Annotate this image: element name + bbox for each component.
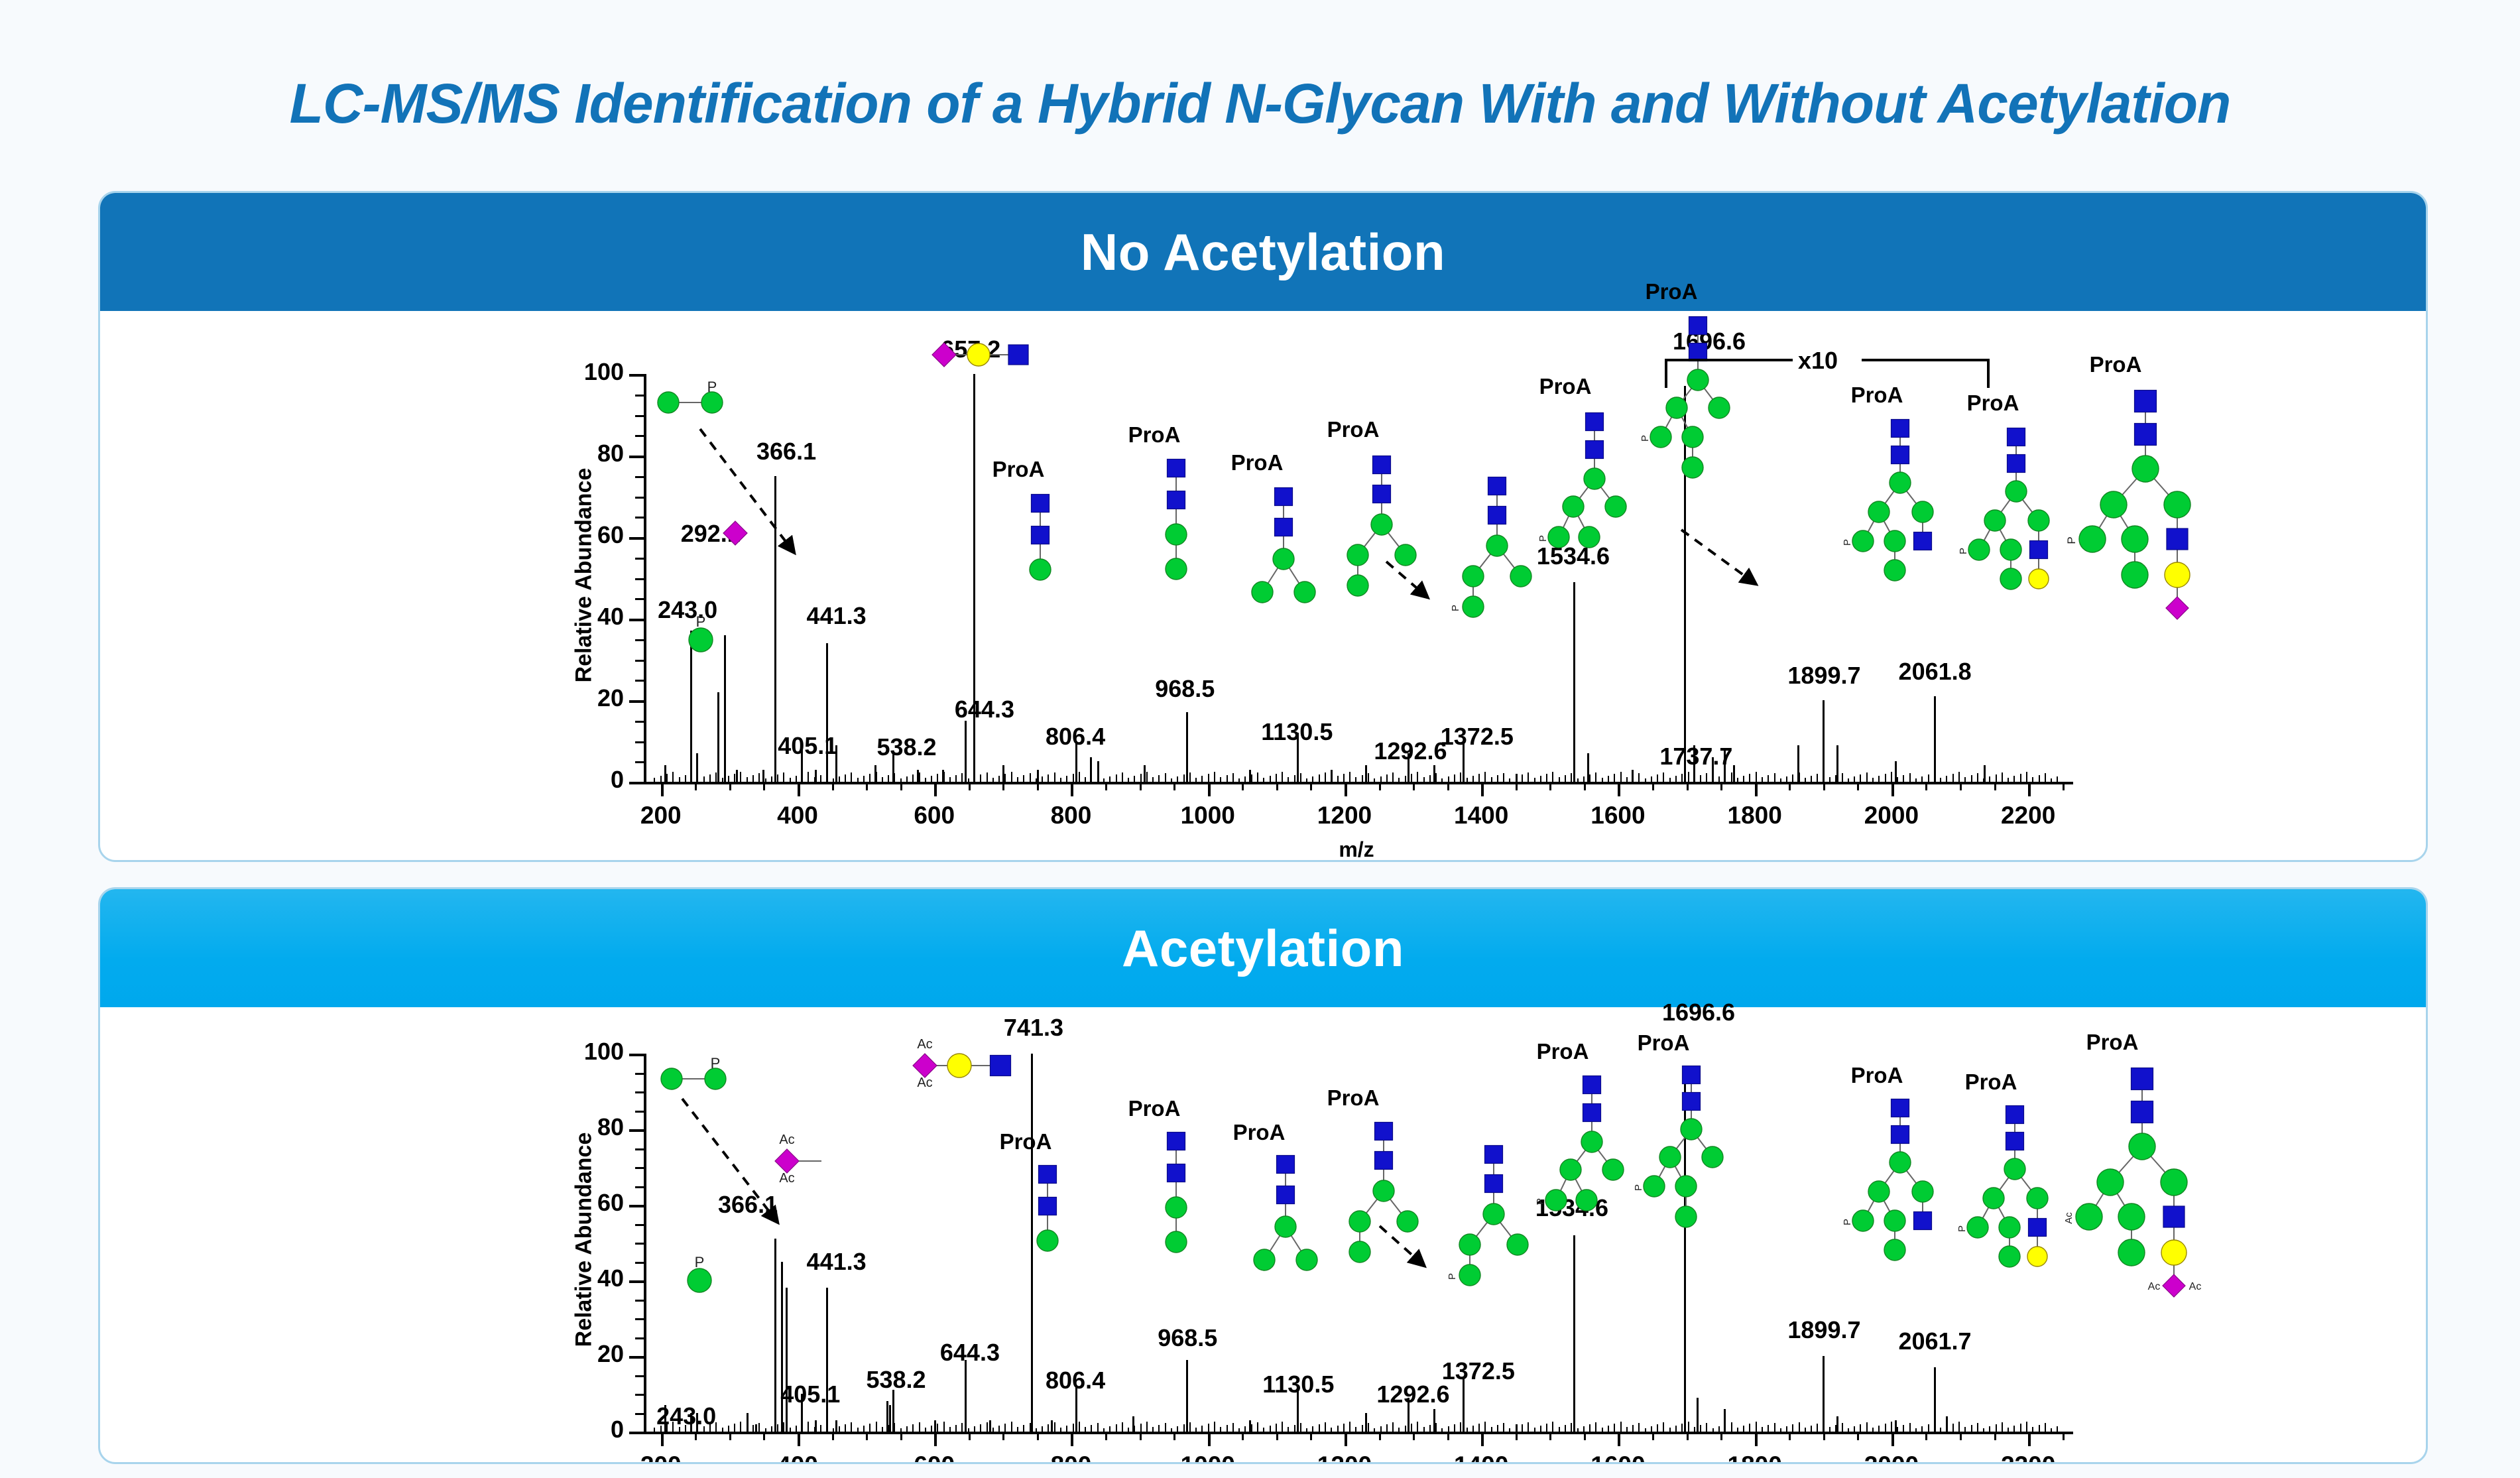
x-major-tick (1755, 782, 1758, 796)
baseline-noise (1700, 1425, 1701, 1432)
baseline-noise (1620, 1422, 1622, 1432)
baseline-noise (1546, 774, 1547, 782)
x-major-tick (1891, 782, 1894, 796)
y-minor-tick (635, 1091, 645, 1093)
x-major-tick (1345, 1432, 1347, 1446)
spectrum-peak-labeled (1934, 696, 1936, 782)
annotation-arrow (1668, 517, 1768, 596)
baseline-noise (1608, 776, 1609, 782)
baseline-noise (1528, 1422, 1529, 1432)
x-major-tick (798, 782, 800, 796)
spectrum-peak-labeled (1823, 1356, 1825, 1432)
x-major-tick (1618, 782, 1620, 796)
baseline-noise (1189, 1422, 1191, 1432)
panel-header-no-acetylation: No Acetylation (100, 193, 2426, 311)
baseline-noise (1048, 774, 1049, 782)
baseline-noise (1251, 774, 1252, 782)
baseline-noise (1109, 776, 1110, 782)
baseline-noise (1688, 1422, 1689, 1432)
svg-text:P: P (1633, 1184, 1644, 1191)
baseline-noise (869, 774, 870, 782)
baseline-noise (937, 774, 938, 782)
x-major-tick (934, 1432, 937, 1446)
baseline-noise (1522, 1424, 1523, 1432)
baseline-noise (1792, 774, 1793, 782)
baseline-noise (1915, 778, 1917, 782)
baseline-noise (1398, 1428, 1400, 1432)
baseline-noise (1565, 1425, 1566, 1432)
baseline-noise (857, 1428, 859, 1432)
x-minor-tick (1310, 782, 1312, 790)
x-minor-tick (729, 1432, 731, 1440)
spectrum-peak-labeled (973, 374, 975, 782)
glycan-structure-diamond-yellow-blue (924, 336, 1044, 373)
spectrum-peak (1836, 745, 1838, 782)
baseline-noise (1534, 1428, 1535, 1432)
y-minor-tick (635, 476, 645, 478)
spectrum-peak (1516, 774, 1518, 782)
baseline-noise (1146, 772, 1148, 782)
baseline-noise (1429, 1425, 1431, 1432)
baseline-noise (790, 1428, 791, 1432)
peak-label: 441.3 (764, 602, 910, 630)
baseline-noise (1620, 772, 1622, 782)
spectrum-peak (1836, 1416, 1838, 1432)
baseline-noise (1540, 1426, 1541, 1432)
baseline-noise (820, 775, 821, 782)
y-minor-tick (635, 395, 645, 397)
baseline-noise (1441, 778, 1443, 782)
peak-label: 441.3 (764, 1248, 910, 1276)
baseline-noise (1158, 775, 1160, 782)
baseline-noise (1325, 1422, 1326, 1432)
spectrum-peak (1331, 770, 1333, 782)
baseline-noise (1915, 1428, 1917, 1432)
baseline-noise (1903, 1425, 1904, 1432)
y-minor-tick (635, 1243, 645, 1245)
x-major-tick (1481, 782, 1484, 796)
x-major-tick (1071, 1432, 1073, 1446)
baseline-noise (1645, 778, 1646, 782)
baseline-noise (1435, 1423, 1437, 1432)
baseline-noise (1423, 1427, 1425, 1432)
baseline-noise (1472, 776, 1474, 782)
baseline-noise (1319, 1424, 1320, 1432)
baseline-noise (1484, 772, 1486, 782)
baseline-noise (808, 772, 809, 782)
x-minor-tick (1549, 782, 1551, 790)
baseline-noise (1257, 772, 1258, 782)
svg-text:Ac: Ac (2063, 1212, 2074, 1224)
y-minor-tick (635, 517, 645, 519)
x-minor-tick (1105, 1432, 1107, 1440)
baseline-noise (1337, 1426, 1339, 1432)
baseline-noise (998, 1426, 1000, 1432)
baseline-noise (1651, 1426, 1652, 1432)
proa-label: ProA (1213, 1120, 1305, 1145)
baseline-noise (1928, 774, 1929, 782)
baseline-noise (968, 1428, 969, 1432)
panel-acetylation: Acetylation 0204060801002004006008001000… (98, 887, 2428, 1464)
spectrum-peak-labeled (826, 643, 828, 782)
y-major-tick (629, 1205, 645, 1207)
baseline-noise (1331, 1428, 1332, 1432)
x-tick-label: 800 (1011, 802, 1130, 830)
proa-label: ProA (2069, 352, 2162, 377)
baseline-noise (1756, 772, 1757, 782)
baseline-noise (1700, 775, 1701, 782)
baseline-noise (1300, 1423, 1301, 1432)
spectrum-peak (696, 753, 698, 782)
baseline-noise (1786, 776, 1787, 782)
baseline-noise (1885, 1424, 1886, 1432)
baseline-noise (1368, 1423, 1369, 1432)
baseline-noise (1842, 773, 1843, 782)
y-minor-tick (635, 1262, 645, 1264)
baseline-noise (1441, 1428, 1443, 1432)
baseline-noise (1263, 778, 1264, 782)
baseline-noise (1312, 776, 1313, 782)
baseline-noise (1165, 1423, 1166, 1432)
x-tick-label: 1600 (1558, 802, 1677, 830)
spectrum-peak (1516, 1424, 1518, 1432)
baseline-noise (1614, 774, 1615, 782)
x-minor-tick (1652, 782, 1654, 790)
baseline-noise (2013, 1426, 2015, 1432)
y-minor-tick (635, 1337, 645, 1339)
spectrum-peak-labeled (826, 1288, 828, 1432)
x-minor-tick (1584, 1432, 1586, 1440)
x-minor-tick (1516, 782, 1518, 790)
baseline-noise (1238, 1428, 1240, 1432)
baseline-noise (1780, 1428, 1781, 1432)
baseline-noise (949, 1427, 951, 1432)
baseline-noise (1276, 1424, 1277, 1432)
panel-no-acetylation: No Acetylation 0204060801002004006008001… (98, 191, 2428, 862)
baseline-noise (1227, 1425, 1228, 1432)
baseline-noise (1085, 777, 1086, 782)
x-minor-tick (1960, 782, 1962, 790)
baseline-noise (1355, 777, 1356, 782)
baseline-noise (1589, 1424, 1590, 1432)
baseline-noise (1467, 1428, 1468, 1432)
proa-label: ProA (1108, 422, 1201, 448)
x-tick-label: 1800 (1695, 802, 1815, 830)
spectrum-peak (1037, 770, 1039, 782)
glycan-structure-bb-g (1018, 489, 1062, 595)
baseline-noise (1903, 775, 1904, 782)
baseline-noise (1614, 1424, 1615, 1432)
x-major-tick (1071, 782, 1073, 796)
baseline-noise (1294, 1425, 1295, 1432)
baseline-noise (931, 1426, 932, 1432)
baseline-noise (1023, 775, 1024, 782)
baseline-noise (1638, 773, 1640, 782)
baseline-noise (912, 1424, 914, 1432)
glycan-structure-diamond-ac-yellow-blue: AcAc (902, 1036, 1035, 1093)
baseline-noise (1073, 1424, 1074, 1432)
baseline-noise (987, 1422, 988, 1432)
y-major-tick (629, 374, 645, 377)
glycan-structure-full-hybrid-sialyl: P (2072, 384, 2225, 662)
baseline-noise (919, 1422, 920, 1432)
baseline-noise (1491, 1427, 1492, 1432)
baseline-noise (839, 1426, 840, 1432)
baseline-noise (1805, 1428, 1806, 1432)
baseline-noise (906, 776, 908, 782)
glycan-structure-bb-g-branch5-p: P (1638, 1060, 1744, 1259)
baseline-noise (1595, 1422, 1596, 1432)
baseline-noise (1288, 777, 1289, 782)
spectrum-plot-acetylation: 0204060801002004006008001000120014001600… (558, 1007, 2162, 1458)
baseline-noise (1983, 1428, 1984, 1432)
baseline-noise (882, 1427, 883, 1432)
y-minor-tick (635, 1073, 645, 1075)
x-minor-tick (1447, 782, 1449, 790)
baseline-noise (777, 1424, 778, 1432)
spectrum-peak (1132, 1416, 1134, 1432)
baseline-noise (2045, 1423, 2046, 1432)
baseline-noise (943, 1422, 945, 1432)
baseline-noise (839, 776, 840, 782)
baseline-noise (1263, 1428, 1264, 1432)
baseline-noise (1669, 1428, 1671, 1432)
spectrum-peak (1365, 1413, 1367, 1432)
baseline-noise (974, 1426, 975, 1432)
baseline-noise (2032, 777, 2033, 782)
glycan-structure-bb-g-branch3-p: P (1446, 1140, 1545, 1310)
baseline-noise (1060, 778, 1061, 782)
baseline-noise (2026, 772, 2027, 782)
spectrum-peak-labeled (1463, 1379, 1465, 1432)
annotation-arrow (1366, 1213, 1436, 1278)
baseline-noise (777, 774, 778, 782)
x-minor-tick (1652, 1432, 1654, 1440)
x-minor-tick (1857, 1432, 1859, 1440)
x-minor-tick (1687, 1432, 1689, 1440)
spectrum-peak-labeled (965, 1360, 967, 1432)
spectrum-peak (886, 1401, 888, 1432)
x-minor-tick (729, 782, 731, 790)
baseline-noise (968, 778, 969, 782)
baseline-noise (1595, 772, 1596, 782)
baseline-noise (1374, 1428, 1375, 1432)
baseline-noise (980, 1424, 981, 1432)
spectrum-peak (1895, 1420, 1897, 1432)
baseline-noise (2020, 774, 2021, 782)
baseline-noise (1971, 1425, 1972, 1432)
y-major-tick (629, 1054, 645, 1056)
baseline-noise (1171, 1428, 1172, 1432)
baseline-noise (1885, 774, 1886, 782)
baseline-noise (2051, 1428, 2052, 1432)
baseline-noise (771, 776, 772, 782)
baseline-noise (1583, 1426, 1585, 1432)
baseline-noise (1848, 778, 1849, 782)
baseline-noise (1928, 1424, 1929, 1432)
svg-text:P: P (696, 613, 706, 630)
x-axis-label: m/z (1317, 837, 1396, 862)
baseline-noise (1854, 1426, 1855, 1432)
spectrum-peak (1365, 765, 1367, 782)
baseline-noise (1374, 778, 1375, 782)
proa-label: ProA (1211, 450, 1303, 475)
x-tick-label: 1600 (1558, 1451, 1677, 1464)
baseline-noise (1921, 1426, 1923, 1432)
peak-label: 538.2 (834, 733, 980, 761)
baseline-noise (1306, 1428, 1307, 1432)
baseline-noise (1552, 1422, 1553, 1432)
proa-label: ProA (1625, 279, 1718, 304)
x-minor-tick (1516, 1432, 1518, 1440)
spectrum-peak-labeled (724, 635, 726, 782)
baseline-noise (796, 1426, 797, 1432)
x-tick-label: 1200 (1285, 802, 1404, 830)
baseline-noise (1743, 776, 1744, 782)
baseline-noise (1989, 1426, 1990, 1432)
baseline-noise (1220, 777, 1221, 782)
x-minor-tick (1687, 782, 1689, 790)
baseline-noise (1712, 1428, 1714, 1432)
x-tick-label: 1200 (1285, 1451, 1404, 1464)
baseline-noise (1952, 1424, 1954, 1432)
baseline-noise (1183, 774, 1185, 782)
baseline-noise (715, 772, 717, 782)
baseline-noise (1251, 1424, 1252, 1432)
baseline-noise (1768, 1425, 1769, 1432)
baseline-noise (1768, 775, 1769, 782)
y-major-tick (629, 456, 645, 458)
baseline-noise (1878, 776, 1880, 782)
x-minor-tick (1310, 1432, 1312, 1440)
baseline-noise (1811, 776, 1812, 782)
baseline-noise (1140, 1424, 1142, 1432)
y-major-tick (629, 700, 645, 703)
x-minor-tick (1447, 1432, 1449, 1440)
baseline-noise (1577, 1428, 1579, 1432)
baseline-noise (1559, 1427, 1560, 1432)
spectrum-peak-labeled (1186, 1360, 1188, 1432)
baseline-noise (1355, 1427, 1356, 1432)
baseline-noise (1054, 772, 1055, 782)
spectrum-peak (835, 1420, 837, 1432)
baseline-noise (1023, 1425, 1024, 1432)
peak-label: 968.5 (1114, 1324, 1260, 1352)
x-minor-tick (832, 782, 834, 790)
spectrum-peak (786, 1288, 788, 1432)
baseline-noise (1195, 1428, 1197, 1432)
x-tick-label: 2000 (1832, 1451, 1951, 1464)
baseline-noise (1921, 776, 1923, 782)
baseline-noise (1244, 776, 1246, 782)
baseline-noise (851, 1422, 852, 1432)
baseline-noise (1860, 774, 1861, 782)
baseline-noise (1964, 777, 1966, 782)
baseline-noise (1091, 1425, 1092, 1432)
baseline-noise (1158, 1425, 1160, 1432)
baseline-noise (1312, 1426, 1313, 1432)
baseline-noise (888, 775, 889, 782)
spectrum-peak (1984, 765, 1986, 782)
baseline-noise (1706, 1423, 1707, 1432)
baseline-noise (1958, 1422, 1960, 1432)
baseline-noise (790, 778, 791, 782)
x-minor-tick (2063, 782, 2065, 790)
baseline-noise (925, 1428, 926, 1432)
x-minor-tick (1994, 782, 1996, 790)
baseline-noise (1749, 774, 1750, 782)
baseline-noise (783, 1422, 784, 1432)
glycan-structure-single-green-p: P (682, 617, 719, 654)
baseline-noise (1042, 1426, 1043, 1432)
baseline-noise (1872, 1428, 1874, 1432)
spectrum-peak (874, 765, 876, 782)
x-minor-tick (1002, 1432, 1004, 1440)
baseline-noise (1146, 1422, 1148, 1432)
baseline-noise (1718, 1426, 1720, 1432)
glycan-structure-bb-g-branch4-p: P (1543, 1070, 1644, 1240)
baseline-noise (894, 773, 895, 782)
x-tick-label: 600 (874, 802, 994, 830)
x-tick-label: 1000 (1148, 802, 1268, 830)
baseline-noise (1842, 1423, 1843, 1432)
baseline-noise (1349, 772, 1350, 782)
x-minor-tick (1584, 782, 1586, 790)
proa-label: ProA (972, 457, 1065, 482)
baseline-noise (1774, 1423, 1775, 1432)
baseline-noise (1958, 772, 1960, 782)
x-tick-label: 400 (738, 802, 857, 830)
baseline-noise (2039, 1425, 2040, 1432)
baseline-noise (1817, 774, 1818, 782)
baseline-noise (1522, 774, 1523, 782)
baseline-noise (1675, 776, 1677, 782)
baseline-noise (1122, 772, 1123, 782)
baseline-noise (672, 772, 674, 782)
baseline-noise (1282, 1422, 1283, 1432)
x-minor-tick (900, 782, 902, 790)
baseline-noise (998, 776, 1000, 782)
spectrum-peak (1249, 1420, 1251, 1432)
baseline-noise (833, 1428, 834, 1432)
baseline-noise (1270, 776, 1271, 782)
baseline-noise (1503, 773, 1504, 782)
glycan-structure-bb-g-branch-blue-yellow-p: P (1963, 422, 2076, 649)
x-minor-tick (1379, 782, 1381, 790)
baseline-noise (2008, 778, 2009, 782)
x-minor-tick (1549, 1432, 1551, 1440)
baseline-noise (1737, 1428, 1738, 1432)
baseline-noise (1675, 1426, 1677, 1432)
x-tick-label: 400 (738, 1451, 857, 1464)
x-minor-tick (763, 782, 765, 790)
baseline-noise (1423, 777, 1425, 782)
baseline-noise (1762, 777, 1763, 782)
y-minor-tick (635, 1300, 645, 1302)
baseline-noise (1362, 775, 1363, 782)
y-minor-tick (635, 721, 645, 723)
annotation-arrow (687, 416, 806, 564)
baseline-noise (1589, 774, 1590, 782)
peak-label: 806.4 (1002, 1367, 1148, 1394)
baseline-noise (2002, 1422, 2003, 1432)
x-tick-label: 800 (1011, 1451, 1130, 1464)
spectrum-peak (1249, 770, 1251, 782)
baseline-noise (1232, 773, 1234, 782)
baseline-noise (1731, 1422, 1732, 1432)
baseline-noise (758, 773, 760, 782)
baseline-noise (1909, 1423, 1911, 1432)
